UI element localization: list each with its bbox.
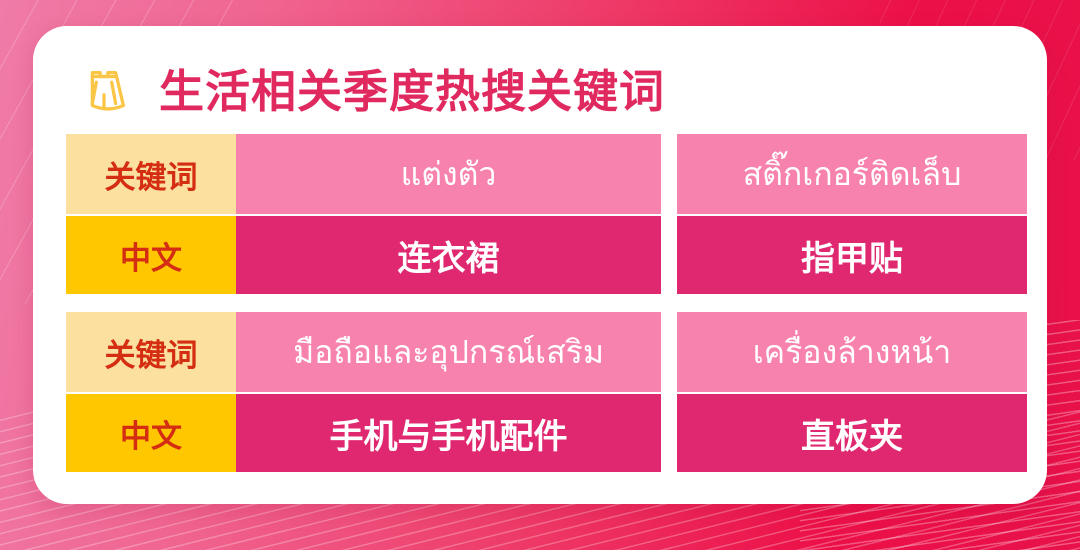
table-group: สติ๊กเกอร์ติดเล็บ 指甲贴 — [677, 134, 1027, 294]
skirt-icon — [73, 60, 135, 122]
keyword-value: มือถือและอุปกรณ์เสริม — [236, 312, 661, 392]
chinese-value: 直板夹 — [677, 392, 1027, 472]
chinese-value: 连衣裙 — [236, 214, 661, 294]
row-label-column: 关键词 中文 — [66, 134, 236, 294]
table-cell-column: แต่งตัว 连衣裙 — [236, 134, 661, 294]
row-label-column: 关键词 中文 — [66, 312, 236, 472]
content-card: 生活相关季度热搜关键词 关键词 中文 แต่งตัว 连衣裙 — [33, 26, 1047, 504]
table-group: 关键词 中文 แต่งตัว 连衣裙 — [66, 134, 661, 294]
row-label-chinese: 中文 — [66, 214, 236, 294]
card-header: 生活相关季度热搜关键词 — [33, 26, 1047, 134]
table-group: เครื่องล้างหน้า 直板夹 — [677, 312, 1027, 472]
row-label-keyword: 关键词 — [66, 312, 236, 392]
table-block: 关键词 中文 แต่งตัว 连衣裙 สติ๊กเกอร์ติดเล็บ 指甲贴 — [66, 134, 1009, 294]
table-group: 关键词 中文 มือถือและอุปกรณ์เสริม 手机与手机配件 — [66, 312, 661, 472]
poster-canvas: 生活相关季度热搜关键词 关键词 中文 แต่งตัว 连衣裙 — [0, 0, 1080, 550]
chinese-value: 手机与手机配件 — [236, 392, 661, 472]
row-label-keyword: 关键词 — [66, 134, 236, 214]
keyword-value: เครื่องล้างหน้า — [677, 312, 1027, 392]
row-label-chinese: 中文 — [66, 392, 236, 472]
table-cell-column: เครื่องล้างหน้า 直板夹 — [677, 312, 1027, 472]
table-cell-column: สติ๊กเกอร์ติดเล็บ 指甲贴 — [677, 134, 1027, 294]
chinese-value: 指甲贴 — [677, 214, 1027, 294]
page-title: 生活相关季度热搜关键词 — [159, 69, 665, 114]
keyword-value: สติ๊กเกอร์ติดเล็บ — [677, 134, 1027, 214]
table-cell-column: มือถือและอุปกรณ์เสริม 手机与手机配件 — [236, 312, 661, 472]
keyword-table: 关键词 中文 แต่งตัว 连衣裙 สติ๊กเกอร์ติดเล็บ 指甲贴 — [33, 134, 1047, 472]
table-block: 关键词 中文 มือถือและอุปกรณ์เสริม 手机与手机配件 เคร… — [66, 312, 1009, 472]
keyword-value: แต่งตัว — [236, 134, 661, 214]
